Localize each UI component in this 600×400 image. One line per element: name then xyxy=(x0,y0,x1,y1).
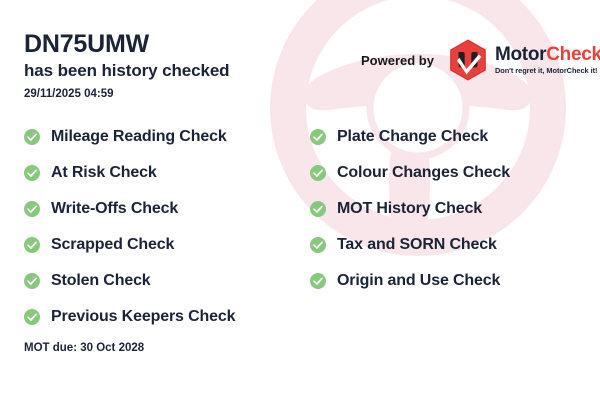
list-item: Tax and SORN Check xyxy=(310,227,510,263)
list-item: Origin and Use Check xyxy=(310,263,510,299)
brand-word-motor: Motor xyxy=(495,44,546,65)
list-item: At Risk Check xyxy=(24,155,235,191)
powered-by-label: Powered by xyxy=(361,53,434,68)
check-label: Previous Keepers Check xyxy=(51,308,235,326)
check-circle-icon xyxy=(310,165,326,181)
vehicle-history-check-card: DN75UMW has been history checked 29/11/2… xyxy=(0,0,600,400)
check-label: Plate Change Check xyxy=(337,128,488,146)
check-label: Write-Offs Check xyxy=(51,200,178,218)
page-title-registration-plate: DN75UMW xyxy=(24,30,229,58)
check-timestamp: 29/11/2025 04:59 xyxy=(24,88,229,100)
list-item: Mileage Reading Check xyxy=(24,119,235,155)
check-circle-icon xyxy=(310,129,326,145)
check-label: At Risk Check xyxy=(51,164,157,182)
check-label: MOT History Check xyxy=(337,200,482,218)
header: DN75UMW has been history checked 29/11/2… xyxy=(24,30,229,100)
check-label: Origin and Use Check xyxy=(337,272,500,290)
check-circle-icon xyxy=(24,237,40,253)
list-item: Write-Offs Check xyxy=(24,191,235,227)
list-item: Stolen Check xyxy=(24,263,235,299)
powered-by-brand-block: Powered by MotorCheck Don't regret it, M… xyxy=(361,39,600,81)
list-item: Plate Change Check xyxy=(310,119,510,155)
check-label: Stolen Check xyxy=(51,272,151,290)
checks-left-column: Mileage Reading Check At Risk Check Writ… xyxy=(24,119,235,335)
check-label: Colour Changes Check xyxy=(337,164,510,182)
motorcheck-hexagon-icon xyxy=(448,39,488,81)
check-circle-icon xyxy=(24,129,40,145)
check-circle-icon xyxy=(24,165,40,181)
brand-tagline: Don't regret it, MotorCheck it! xyxy=(495,66,600,75)
list-item: Colour Changes Check xyxy=(310,155,510,191)
mot-due-text: MOT due: 30 Oct 2028 xyxy=(24,342,144,354)
list-item: MOT History Check xyxy=(310,191,510,227)
check-circle-icon xyxy=(310,237,326,253)
check-circle-icon xyxy=(24,201,40,217)
check-circle-icon xyxy=(24,309,40,325)
brand-word-check: Check xyxy=(546,44,600,65)
list-item: Previous Keepers Check xyxy=(24,299,235,335)
motorcheck-logo[interactable]: MotorCheck Don't regret it, MotorCheck i… xyxy=(448,39,600,81)
check-label: Tax and SORN Check xyxy=(337,236,497,254)
check-circle-icon xyxy=(24,273,40,289)
list-item: Scrapped Check xyxy=(24,227,235,263)
check-label: Mileage Reading Check xyxy=(51,128,227,146)
brand-wordmark: MotorCheck xyxy=(495,45,600,64)
check-label: Scrapped Check xyxy=(51,236,174,254)
check-circle-icon xyxy=(310,201,326,217)
checks-right-column: Plate Change Check Colour Changes Check … xyxy=(310,119,510,299)
page-subtitle: has been history checked xyxy=(24,61,229,81)
check-circle-icon xyxy=(310,273,326,289)
